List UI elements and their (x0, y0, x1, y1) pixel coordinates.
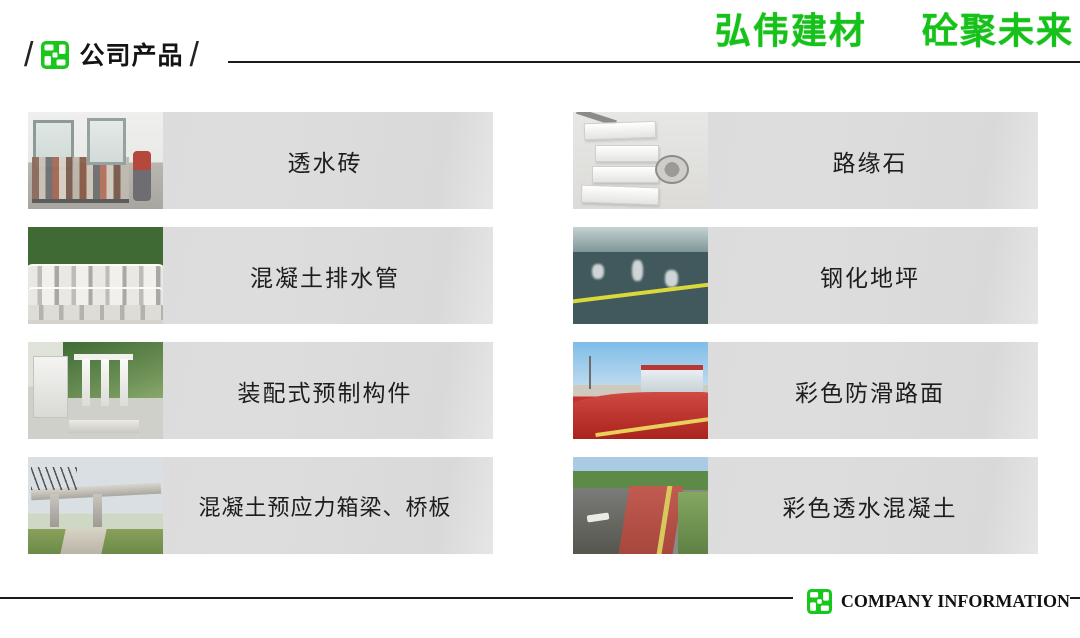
product-label: 彩色防滑路面 (708, 342, 1038, 439)
footer-company-label: COMPANY INFORMATION (841, 591, 1070, 612)
title-slash-right-icon: / (189, 38, 198, 72)
product-label: 彩色透水混凝土 (708, 457, 1038, 554)
slogan-part-two: 砼聚未来 (922, 11, 1074, 52)
product-column-left: 透水砖 混凝土排水管 装配式预制构件 (28, 112, 493, 572)
product-label: 透水砖 (163, 112, 493, 209)
product-card-hardened-floor[interactable]: 钢化地坪 (573, 227, 1038, 324)
product-thumbnail-permeable-brick (28, 112, 163, 209)
product-card-box-girder[interactable]: 混凝土预应力箱梁、桥板 (28, 457, 493, 554)
product-card-prefab-components[interactable]: 装配式预制构件 (28, 342, 493, 439)
product-thumbnail-hardened-floor (573, 227, 708, 324)
title-slash-left-icon: / (24, 38, 33, 72)
product-label: 路缘石 (708, 112, 1038, 209)
product-card-curbstone[interactable]: 路缘石 (573, 112, 1038, 209)
product-thumbnail-prefab-components (28, 342, 163, 439)
product-thumbnail-permeable-concrete (573, 457, 708, 554)
product-label: 钢化地坪 (708, 227, 1038, 324)
company-slogan: 弘伟建材 砼聚未来 (715, 14, 1074, 50)
page-header: / 公司产品 / 弘伟建材 砼聚未来 (0, 0, 1080, 92)
product-column-right: 路缘石 钢化地坪 彩色防滑路面 (573, 112, 1038, 572)
page-title: 公司产品 (79, 43, 183, 68)
product-label: 混凝土预应力箱梁、桥板 (163, 457, 493, 554)
product-label: 混凝土排水管 (163, 227, 493, 324)
product-card-anti-slip-pavement[interactable]: 彩色防滑路面 (573, 342, 1038, 439)
slogan-part-one: 弘伟建材 (715, 11, 867, 52)
product-thumbnail-anti-slip-pavement (573, 342, 708, 439)
brand-pinwheel-logo-icon (41, 41, 69, 69)
product-thumbnail-drainage-pipe (28, 227, 163, 324)
product-thumbnail-curbstone (573, 112, 708, 209)
product-thumbnail-box-girder (28, 457, 163, 554)
product-card-drainage-pipe[interactable]: 混凝土排水管 (28, 227, 493, 324)
header-divider (228, 61, 1080, 63)
brand-pinwheel-logo-icon (807, 589, 832, 614)
product-label: 装配式预制构件 (163, 342, 493, 439)
product-card-permeable-brick[interactable]: 透水砖 (28, 112, 493, 209)
product-card-permeable-concrete[interactable]: 彩色透水混凝土 (573, 457, 1038, 554)
footer-brand: COMPANY INFORMATION (793, 586, 1070, 616)
page-title-group: / 公司产品 / (24, 32, 199, 78)
